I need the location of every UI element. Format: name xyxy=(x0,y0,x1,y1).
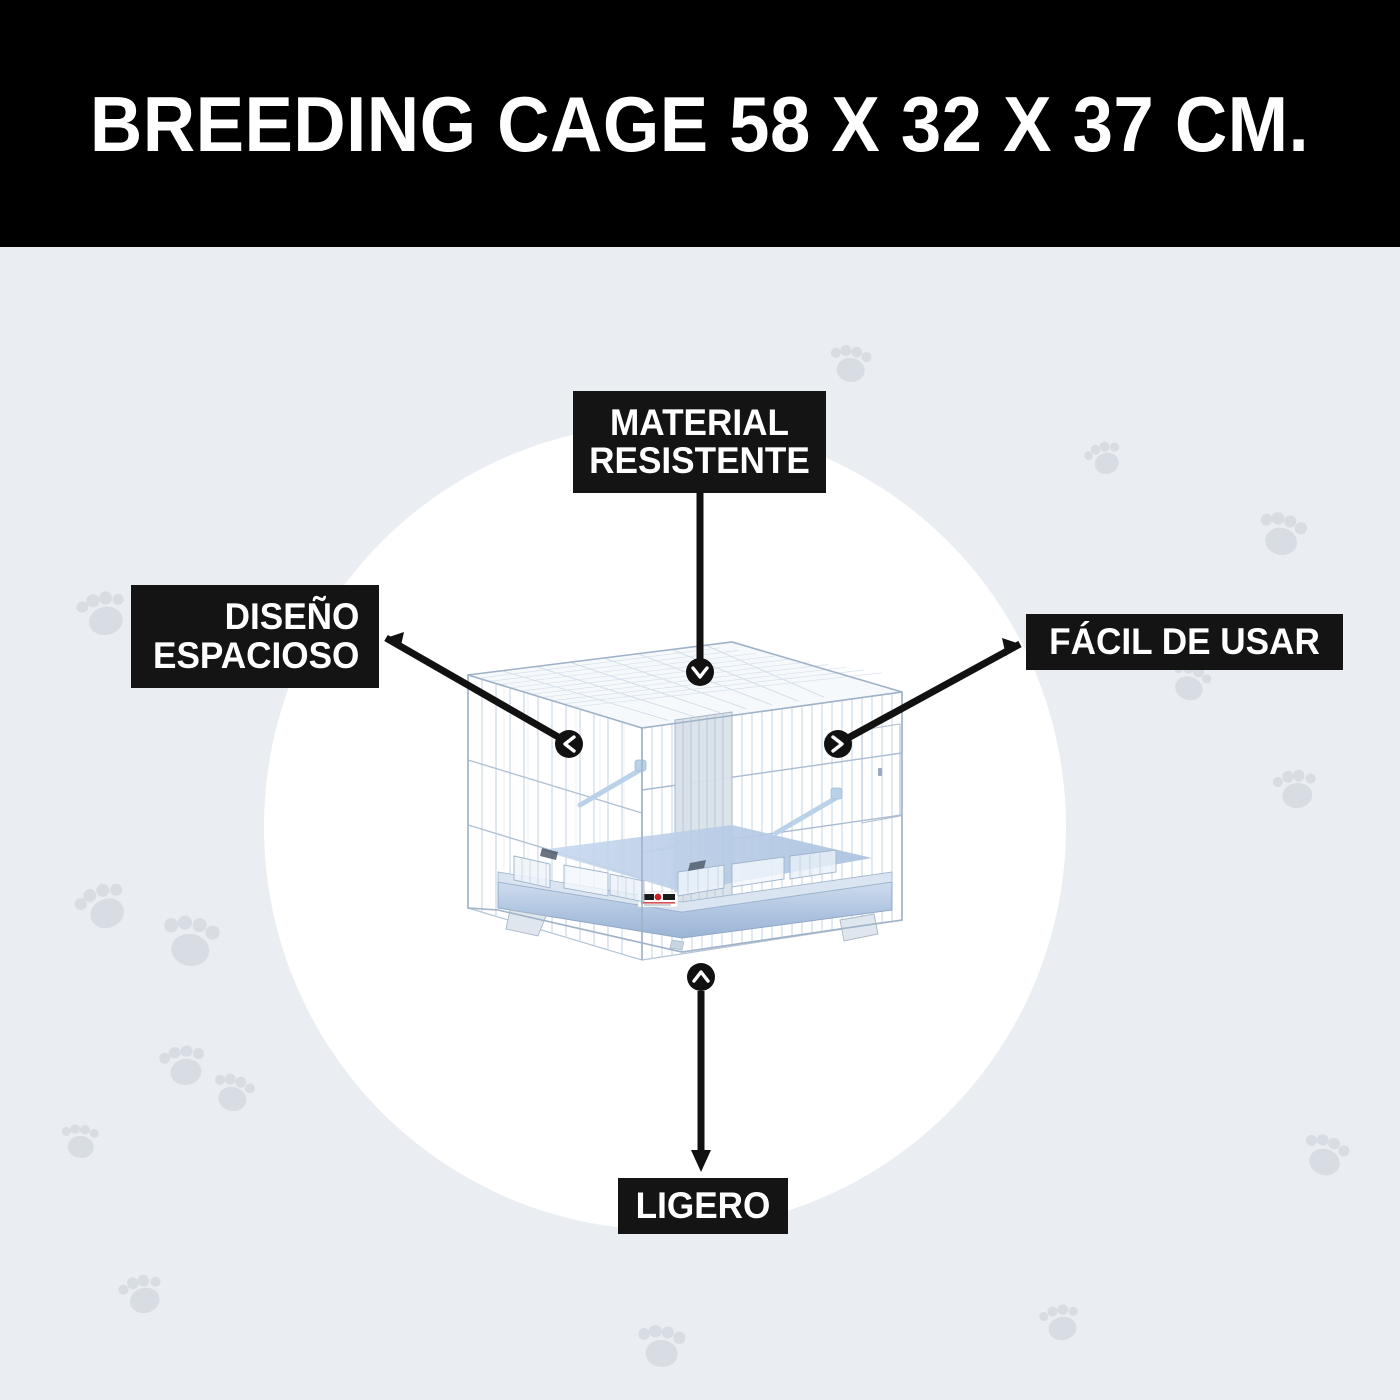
paw-print-icon xyxy=(114,1265,174,1330)
callout-line-1: MATERIAL xyxy=(589,404,810,442)
callout-line-2: RESISTENTE xyxy=(589,442,810,480)
paw-toe xyxy=(1109,442,1120,453)
callout-label-material-resistente[interactable]: MATERIAL RESISTENTE xyxy=(573,391,826,493)
callout-line-2: ESPACIOSO xyxy=(147,637,360,675)
callout-label-diseno-espacioso[interactable]: DISEÑO ESPACIOSO xyxy=(131,585,379,688)
paw-print-icon xyxy=(68,870,144,951)
paw-print-icon xyxy=(1270,763,1324,823)
paw-toe xyxy=(109,882,125,898)
product-image-breeding-cage xyxy=(432,620,932,1020)
paw-toe xyxy=(168,1046,181,1059)
paw-toe xyxy=(80,1125,91,1136)
paw-print-icon xyxy=(1292,1124,1357,1194)
callout-label-ligero[interactable]: LIGERO xyxy=(618,1178,788,1234)
paw-pad xyxy=(1047,1314,1078,1341)
paw-toe xyxy=(1068,1306,1079,1317)
callout-line-1: DISEÑO xyxy=(147,598,360,636)
paw-toe xyxy=(111,593,125,607)
callout-line-1: LIGERO xyxy=(632,1187,775,1225)
paw-toe xyxy=(137,1274,151,1288)
paw-toe xyxy=(180,1044,193,1057)
paw-pad xyxy=(127,1285,162,1316)
paw-toe xyxy=(192,1047,204,1059)
paw-pad xyxy=(835,357,867,385)
paw-toe xyxy=(98,590,113,605)
paw-toe xyxy=(70,1124,81,1135)
paw-print-icon xyxy=(154,905,227,986)
callout-line-1: FÁCIL DE USAR xyxy=(1043,623,1325,661)
paw-toe xyxy=(149,1275,162,1288)
paw-toe xyxy=(205,925,220,940)
header-bar: BREEDING CAGE 58 X 32 X 37 CM. xyxy=(0,0,1400,247)
paw-toe xyxy=(673,1332,685,1344)
paw-toe xyxy=(861,352,872,363)
cage-svg xyxy=(432,620,932,1020)
paw-toe xyxy=(649,1324,662,1337)
paw-print-icon xyxy=(825,338,878,397)
paw-toe xyxy=(1294,521,1308,535)
paw-print-icon xyxy=(156,1037,214,1101)
page-title: BREEDING CAGE 58 X 32 X 37 CM. xyxy=(90,85,1309,163)
paw-toe xyxy=(176,914,193,931)
paw-print-icon xyxy=(1036,1297,1088,1354)
paw-toe xyxy=(1099,441,1111,453)
paw-pad xyxy=(168,1057,202,1087)
paw-print-icon xyxy=(204,1065,263,1129)
paw-toe xyxy=(1293,769,1305,781)
paw-toe xyxy=(1281,771,1293,783)
paw-print-icon xyxy=(1080,433,1132,489)
paw-toe xyxy=(90,1129,100,1139)
paw-toe xyxy=(244,1082,256,1094)
paw-toe xyxy=(1305,773,1316,784)
paw-toe xyxy=(1337,1144,1351,1158)
paw-toe xyxy=(1057,1304,1069,1316)
paw-toe xyxy=(840,344,852,356)
paw-print-icon xyxy=(58,1119,103,1170)
paw-print-icon xyxy=(1250,503,1315,574)
infographic-canvas: BREEDING CAGE 58 X 32 X 37 CM. MATERIAL … xyxy=(0,0,1400,1400)
paw-toe xyxy=(661,1326,674,1339)
paw-print-icon xyxy=(633,1317,691,1382)
paw-toe xyxy=(163,918,178,933)
paw-pad xyxy=(644,1338,679,1368)
paw-toe xyxy=(1201,673,1213,685)
callout-label-facil-de-usar[interactable]: FÁCIL DE USAR xyxy=(1026,614,1343,670)
paw-pad xyxy=(67,1135,94,1159)
paw-pad xyxy=(86,603,125,637)
paw-print-icon xyxy=(72,581,138,653)
paw-pad xyxy=(1281,782,1313,810)
paw-toe xyxy=(94,882,111,899)
